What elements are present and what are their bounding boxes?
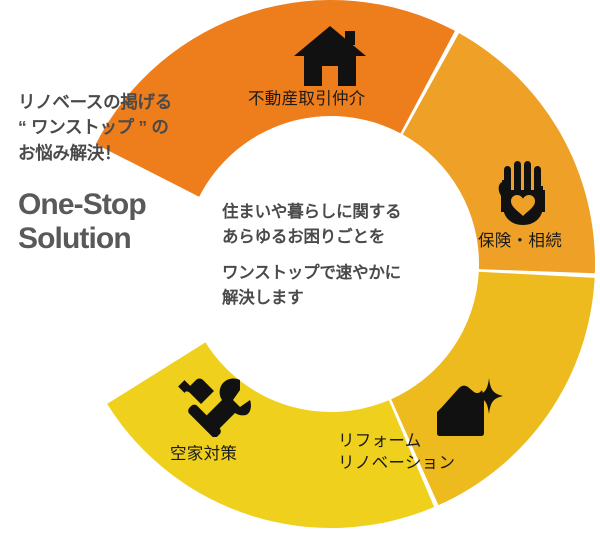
segment-label-realestate[interactable]: 不動産取引仲介 bbox=[248, 88, 366, 110]
center-para2-line2: 解決します bbox=[222, 286, 462, 311]
center-para1-line2: あらゆるお困りごとを bbox=[222, 225, 462, 250]
brand-title-line-1: One-Stop bbox=[18, 188, 233, 222]
segment-label-vacant[interactable]: 空家対策 bbox=[170, 443, 237, 465]
center-para2-line1: ワンストップで速やかに bbox=[222, 261, 462, 286]
paragraph-spacer bbox=[222, 250, 462, 261]
brand-title-line-2: Solution bbox=[18, 222, 233, 256]
segment-label-insurance[interactable]: 保険・相続 bbox=[478, 230, 562, 252]
lead-line-2: “ ワンストップ ” の bbox=[18, 115, 233, 140]
brand-title: One-Stop Solution bbox=[18, 188, 233, 255]
center-para1-line1: 住まいや暮らしに関する bbox=[222, 200, 462, 225]
segment-label-reform-line1: リフォーム bbox=[338, 430, 455, 452]
hammer-wrench-icon bbox=[178, 375, 252, 437]
house-icon bbox=[293, 25, 367, 87]
segment-label-reform[interactable]: リフォーム リノベーション bbox=[338, 430, 455, 475]
lead-line-3: お悩み解決！ bbox=[18, 141, 233, 166]
lead-line-1: リノベースの掲げる bbox=[18, 90, 233, 115]
segment-label-reform-line2: リノベーション bbox=[338, 452, 455, 474]
center-description-block: 住まいや暮らしに関する あらゆるお困りごとを ワンストップで速やかに 解決します bbox=[222, 200, 462, 311]
one-stop-solution-infographic: リノベースの掲げる “ ワンストップ ” の お悩み解決！ One-Stop S… bbox=[0, 0, 600, 533]
left-headline-block: リノベースの掲げる “ ワンストップ ” の お悩み解決！ One-Stop S… bbox=[18, 90, 233, 255]
hand-heart-icon bbox=[497, 160, 549, 226]
sparkle-house-icon bbox=[432, 376, 504, 438]
